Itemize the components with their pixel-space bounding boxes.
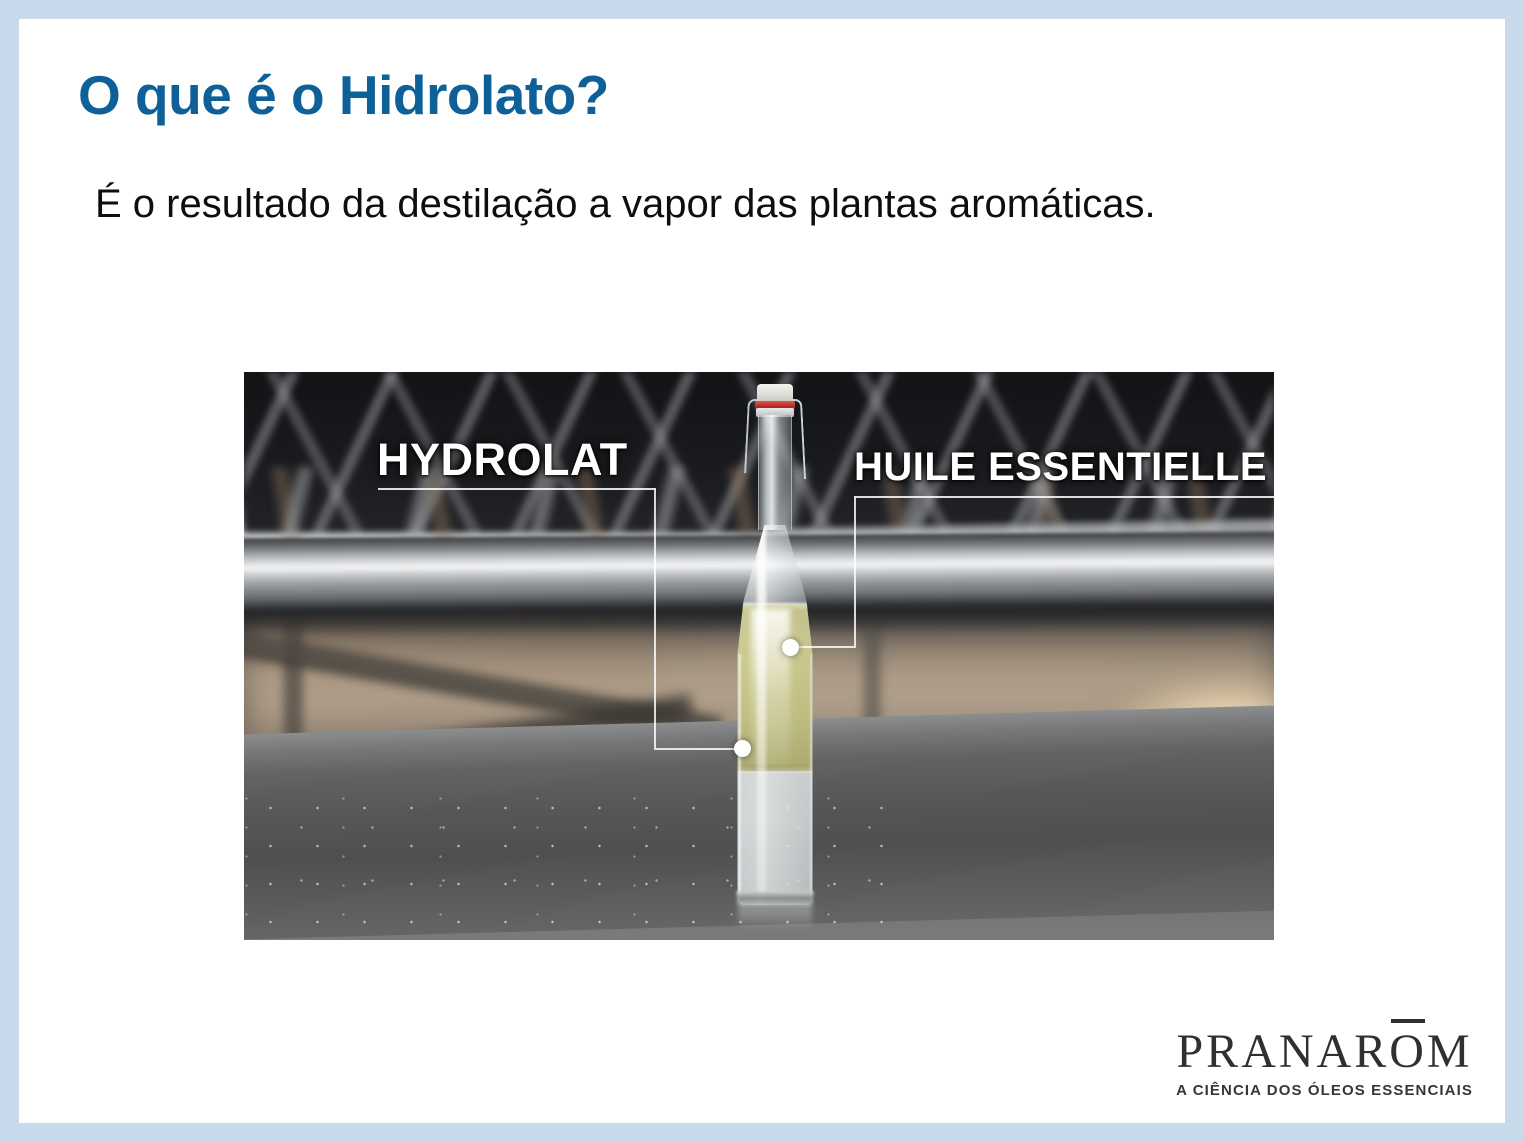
callout-dot-hydrolat: [734, 740, 751, 757]
logo-wordmark-part1: PRANAR: [1176, 1025, 1389, 1078]
callout-label-huile-essentielle: HUILE ESSENTIELLE: [854, 445, 1267, 490]
callout-label-hydrolat: HYDROLAT: [377, 434, 628, 486]
page-subtitle: É o resultado da destilação a vapor das …: [95, 182, 1156, 227]
logo-tagline: A CIÊNCIA DOS ÓLEOS ESSENCIAIS: [1176, 1082, 1473, 1099]
hydrolat-photo: HYDROLAT HUILE ESSENTIELLE: [244, 372, 1274, 940]
callout-dot-huile-essentielle: [782, 639, 799, 656]
logo-wordmark-macron-o: O: [1389, 1028, 1427, 1076]
slide: O que é o Hidrolato? É o resultado da de…: [0, 0, 1524, 1142]
callout-rule-huile-essentielle: [854, 496, 1274, 498]
bottle-reflection: [738, 905, 812, 931]
callout-rule-hydrolat: [378, 488, 656, 490]
slide-content-area: O que é o Hidrolato? É o resultado da de…: [19, 19, 1505, 1123]
logo-wordmark-part2: M: [1427, 1025, 1473, 1078]
logo-wordmark: PRANAROM: [1176, 1028, 1473, 1076]
page-title: O que é o Hidrolato?: [78, 63, 609, 127]
hydrosol-layer: [700, 771, 850, 905]
pranarom-logo: PRANAROM A CIÊNCIA DOS ÓLEOS ESSENCIAIS: [1176, 1028, 1473, 1099]
bottle-highlight: [757, 525, 766, 905]
callout-leader-hydrolat: [654, 489, 744, 750]
bottle-edge-right: [810, 654, 813, 905]
callout-leader-huile-essentielle: [792, 497, 856, 648]
bottle-neck: [758, 415, 792, 530]
